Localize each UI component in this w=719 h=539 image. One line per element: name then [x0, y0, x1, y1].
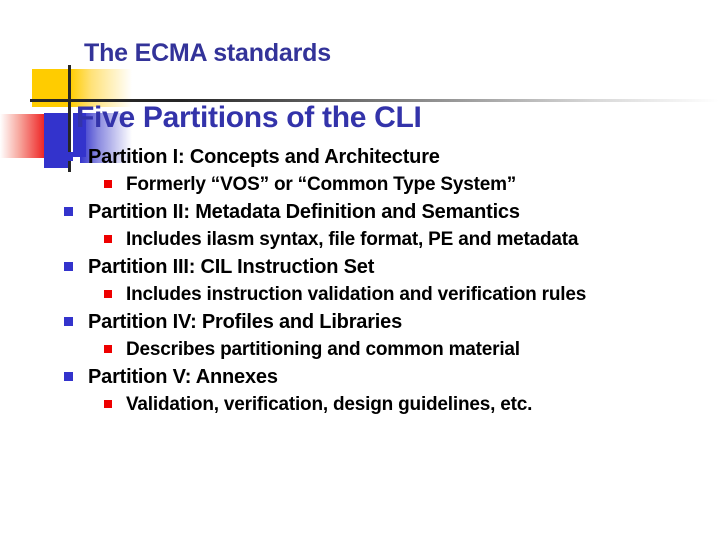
slide-kicker-heading: The ECMA standards [84, 39, 331, 68]
bullet-text: Partition II: Metadata Definition and Se… [88, 198, 520, 226]
red-square-bullet-icon [104, 400, 112, 408]
bullet-item-level1: Partition IV: Profiles and Libraries [0, 308, 719, 336]
bullet-text: Validation, verification, design guideli… [126, 391, 532, 418]
bullet-item-level1: Partition I: Concepts and Architecture [0, 143, 719, 171]
bullet-text: Partition III: CIL Instruction Set [88, 253, 374, 281]
red-square-bullet-icon [104, 345, 112, 353]
bullet-text: Partition I: Concepts and Architecture [88, 143, 440, 171]
blue-square-bullet-icon [64, 317, 73, 326]
bullet-item-level1: Partition II: Metadata Definition and Se… [0, 198, 719, 226]
bullet-text: Partition IV: Profiles and Libraries [88, 308, 402, 336]
bullet-list: Partition I: Concepts and ArchitectureFo… [0, 143, 719, 418]
red-square-bullet-icon [104, 235, 112, 243]
page-title: Five Partitions of the CLI [76, 101, 422, 135]
blue-square-bullet-icon [64, 372, 73, 381]
bullet-item-level2: Validation, verification, design guideli… [0, 391, 719, 418]
bullet-text: Includes instruction validation and veri… [126, 281, 586, 308]
red-square-bullet-icon [104, 290, 112, 298]
bullet-item-level2: Includes ilasm syntax, file format, PE a… [0, 226, 719, 253]
bullet-text: Includes ilasm syntax, file format, PE a… [126, 226, 578, 253]
blue-square-bullet-icon [64, 207, 73, 216]
blue-square-bullet-icon [64, 262, 73, 271]
bullet-item-level1: Partition III: CIL Instruction Set [0, 253, 719, 281]
red-square-bullet-icon [104, 180, 112, 188]
bullet-text: Partition V: Annexes [88, 363, 278, 391]
bullet-item-level2: Describes partitioning and common materi… [0, 336, 719, 363]
bullet-text: Formerly “VOS” or “Common Type System” [126, 171, 516, 198]
bullet-item-level1: Partition V: Annexes [0, 363, 719, 391]
bullet-item-level2: Formerly “VOS” or “Common Type System” [0, 171, 719, 198]
slide-canvas: The ECMA standards Five Partitions of th… [0, 0, 719, 539]
bullet-item-level2: Includes instruction validation and veri… [0, 281, 719, 308]
blue-square-bullet-icon [64, 152, 73, 161]
bullet-text: Describes partitioning and common materi… [126, 336, 520, 363]
